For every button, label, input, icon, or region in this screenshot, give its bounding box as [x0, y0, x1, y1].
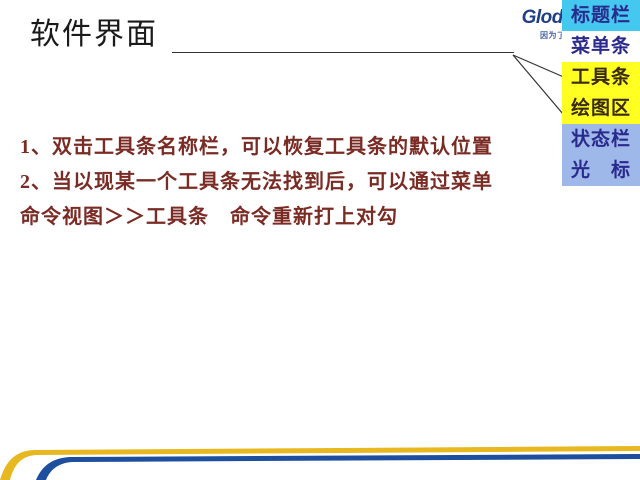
- callout-band-title-bar: 标题栏: [562, 0, 640, 31]
- body-text-block: 1、双击工具条名称栏，可以恢复工具条的默认位置 2、当以现某一个工具条无法找到后…: [20, 130, 580, 235]
- page-title: 软件界面: [30, 16, 158, 54]
- callout-band-toolbar: 工具条: [562, 62, 640, 93]
- callout-band-menu-bar: 菜单条: [562, 31, 640, 62]
- slide-canvas: 软件界面 Glodo 因为了解 标题栏 菜单条 工具条 绘图区 状态栏 光 标 …: [0, 0, 640, 480]
- leader-line-drawarea: [513, 55, 563, 114]
- body-line-2: 2、当以现某一个工具条无法找到后，可以通过菜单: [20, 165, 580, 200]
- title-underline-rule: [172, 52, 514, 53]
- body-line-1: 1、双击工具条名称栏，可以恢复工具条的默认位置: [20, 130, 580, 165]
- footer-decoration: [0, 420, 640, 480]
- leader-lines: [0, 0, 640, 480]
- body-line-3: 命令视图＞＞工具条 命令重新打上对勾: [20, 200, 580, 235]
- callout-band-draw-area: 绘图区: [562, 93, 640, 124]
- footer-gold-bar: [0, 446, 640, 480]
- leader-line-toolbar: [513, 55, 566, 78]
- footer-blue-bar: [36, 454, 640, 480]
